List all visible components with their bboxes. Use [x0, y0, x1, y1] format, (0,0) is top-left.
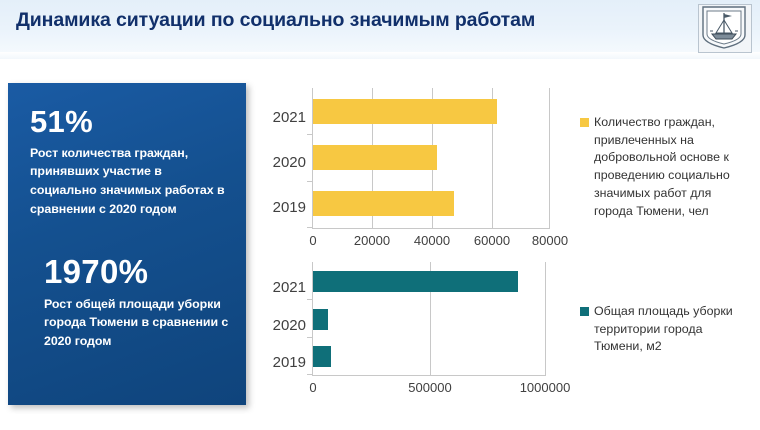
x-tick-label: 0 — [309, 233, 316, 248]
axis-tick — [307, 299, 312, 300]
category-label: 2019 — [273, 354, 306, 371]
x-tick-label: 0 — [309, 380, 316, 395]
legend-citizens: Количество граждан, привлеченных на добр… — [580, 114, 752, 220]
highlight-description: Рост общей площади уборки города Тюмени … — [44, 295, 234, 352]
category-label: 2021 — [273, 279, 306, 296]
highlight-number: 1970% — [44, 255, 234, 290]
x-axis-line — [312, 228, 550, 229]
bar-2021 — [313, 271, 518, 292]
axis-tick — [307, 374, 312, 375]
slide-root: Динамика ситуации по социально значимым … — [0, 0, 760, 430]
chart-citizens-plot: 0 20000 40000 60000 80000 — [312, 88, 550, 228]
gridline — [545, 262, 546, 375]
legend-swatch-icon — [580, 118, 589, 127]
chart-area-plot: 0 500000 1000000 — [312, 262, 546, 375]
chart-area: 2021 2020 2019 0 500000 1000000 — [252, 262, 562, 407]
axis-tick — [307, 134, 312, 135]
x-tick-label: 20000 — [354, 233, 390, 248]
legend-swatch-icon — [580, 307, 589, 316]
page-title: Динамика ситуации по социально значимым … — [16, 9, 535, 32]
chart-citizens: 2021 2020 2019 0 20000 40000 60000 80000 — [252, 88, 562, 256]
x-axis-line — [312, 375, 546, 376]
axis-tick — [307, 227, 312, 228]
highlight-description: Рост количества граждан, принявших участ… — [30, 144, 230, 219]
category-label: 2019 — [273, 199, 306, 216]
slide-header: Динамика ситуации по социально значимым … — [0, 0, 760, 53]
axis-tick — [307, 337, 312, 338]
bar-2020 — [313, 309, 328, 330]
bar-2020 — [313, 145, 437, 170]
x-tick-label: 80000 — [532, 233, 568, 248]
slide-footer — [0, 414, 760, 430]
highlight-item-51: 51% Рост количества граждан, принявших у… — [30, 106, 230, 219]
x-tick-label: 500000 — [408, 380, 451, 395]
legend-label: Общая площадь уборки территории города Т… — [594, 303, 752, 356]
bar-2019 — [313, 346, 331, 367]
legend-label: Количество граждан, привлеченных на добр… — [594, 114, 752, 220]
category-label: 2021 — [273, 109, 306, 126]
x-tick-label: 60000 — [474, 233, 510, 248]
category-label: 2020 — [273, 154, 306, 171]
legend-area: Общая площадь уборки территории города Т… — [580, 303, 752, 356]
tyumen-coat-of-arms-icon — [698, 4, 752, 53]
highlight-item-1970: 1970% Рост общей площади уборки города Т… — [44, 255, 234, 351]
header-divider — [0, 52, 760, 59]
x-tick-label: 1000000 — [520, 380, 571, 395]
axis-tick — [307, 181, 312, 182]
highlight-panel: 51% Рост количества граждан, принявших у… — [8, 83, 246, 405]
bar-2021 — [313, 99, 497, 124]
category-label: 2020 — [273, 317, 306, 334]
chart-area-category-axis: 2021 2020 2019 — [252, 262, 310, 407]
gridline — [549, 88, 550, 228]
highlight-number: 51% — [30, 106, 230, 139]
bar-2019 — [313, 191, 454, 216]
x-tick-label: 40000 — [414, 233, 450, 248]
chart-citizens-category-axis: 2021 2020 2019 — [252, 88, 310, 256]
